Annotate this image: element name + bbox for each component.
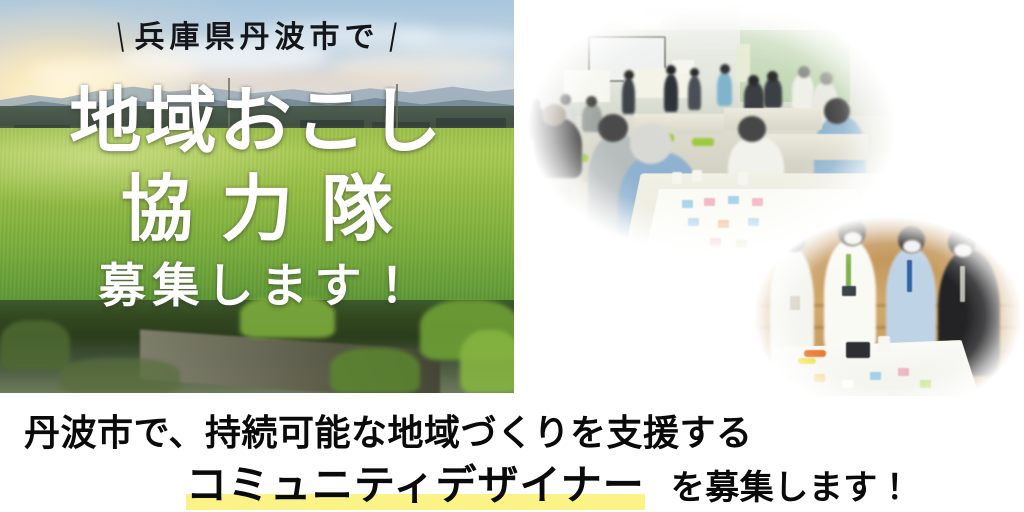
marker-pen	[804, 350, 826, 357]
ceiling-light	[742, 4, 786, 14]
person-head	[824, 98, 850, 124]
chair-seat	[692, 138, 714, 146]
grass-tuft	[460, 330, 514, 393]
sticky-note	[704, 198, 715, 206]
grass-tuft	[0, 320, 70, 370]
standing-person	[622, 78, 635, 114]
headline-line-2: 協力隊	[0, 174, 514, 246]
sticky-note	[728, 196, 739, 204]
standing-person	[717, 72, 732, 106]
bottom-line-1: 丹波市で、持続可能な地域づくりを支援する	[24, 404, 753, 456]
headline-line-1: 地域おこし	[0, 86, 514, 158]
person-head	[624, 70, 634, 80]
lanyard-card	[842, 286, 856, 296]
wall-poster	[736, 44, 750, 82]
seated-person	[764, 78, 782, 108]
standing-group-photo	[742, 208, 1024, 424]
bottom-line-2-tail: を募集します！	[671, 460, 913, 509]
face-mask	[954, 244, 972, 257]
person-head	[666, 65, 676, 75]
paper-cup	[878, 336, 890, 352]
paper-cup	[738, 172, 748, 185]
sticky-note	[842, 380, 853, 388]
lanyard-strap	[846, 254, 851, 288]
bottom-line-2: コミュニティデザイナー を募集します！	[186, 451, 912, 511]
seated-person	[534, 118, 582, 178]
lanyard-card	[790, 296, 800, 310]
person-head	[782, 228, 806, 252]
person-head	[798, 66, 810, 78]
standing-person	[688, 76, 701, 110]
sticky-note	[718, 220, 729, 228]
person-head	[560, 94, 571, 105]
sticky-note	[920, 380, 931, 388]
face-mask	[844, 232, 862, 245]
kicker-text: 兵庫県丹波市で	[135, 21, 380, 54]
grass-tuft	[330, 348, 420, 393]
sticky-note	[710, 238, 721, 246]
sticky-note	[688, 218, 699, 226]
headline-stack: 地域おこし 協力隊 募集します！	[0, 86, 514, 309]
person-head	[586, 96, 597, 107]
sticky-note	[752, 198, 763, 206]
sticky-note	[682, 200, 693, 208]
person-head	[528, 98, 540, 110]
headline-line-3: 募集します！	[0, 262, 514, 309]
highlighted-role: コミュニティデザイナー	[186, 451, 645, 511]
paper-cup	[692, 170, 702, 182]
paper-cup	[672, 172, 682, 184]
bottom-text-block: 丹波市で、持続可能な地域づくりを支援する コミュニティデザイナー を募集します！	[0, 396, 1024, 512]
person-head-grey-hair	[630, 124, 672, 164]
person-head	[767, 71, 778, 82]
poster-root: \兵庫県丹波市で/ 地域おこし 協力隊 募集します！	[0, 0, 1024, 512]
marker-pen	[798, 358, 816, 364]
sticky-note	[814, 374, 825, 382]
person-head	[542, 104, 566, 126]
seated-person	[792, 74, 814, 110]
slash-right-decoration: /	[390, 14, 397, 62]
sticky-note	[870, 372, 881, 380]
ceiling-light	[626, 16, 663, 24]
lanyard-strap	[907, 260, 912, 292]
person-head	[748, 75, 759, 86]
person-head	[720, 64, 730, 74]
person-head	[690, 68, 699, 77]
kicker-line: \兵庫県丹波市で/	[0, 12, 514, 56]
person-head	[738, 116, 766, 142]
ceiling-light	[576, 2, 643, 14]
grass-tuft	[60, 358, 180, 393]
role-label: コミュニティデザイナー	[186, 462, 645, 508]
slash-left-decoration: \	[118, 14, 125, 62]
sticky-note	[898, 368, 909, 376]
person-head	[820, 72, 833, 85]
face-mask	[903, 240, 921, 253]
ceiling-light	[668, 0, 731, 8]
lanyard-strap	[960, 266, 965, 302]
person-head	[598, 114, 628, 142]
hero-photo: \兵庫県丹波市で/ 地域おこし 協力隊 募集します！	[0, 0, 514, 393]
device	[846, 342, 870, 358]
standing-person	[664, 74, 678, 112]
